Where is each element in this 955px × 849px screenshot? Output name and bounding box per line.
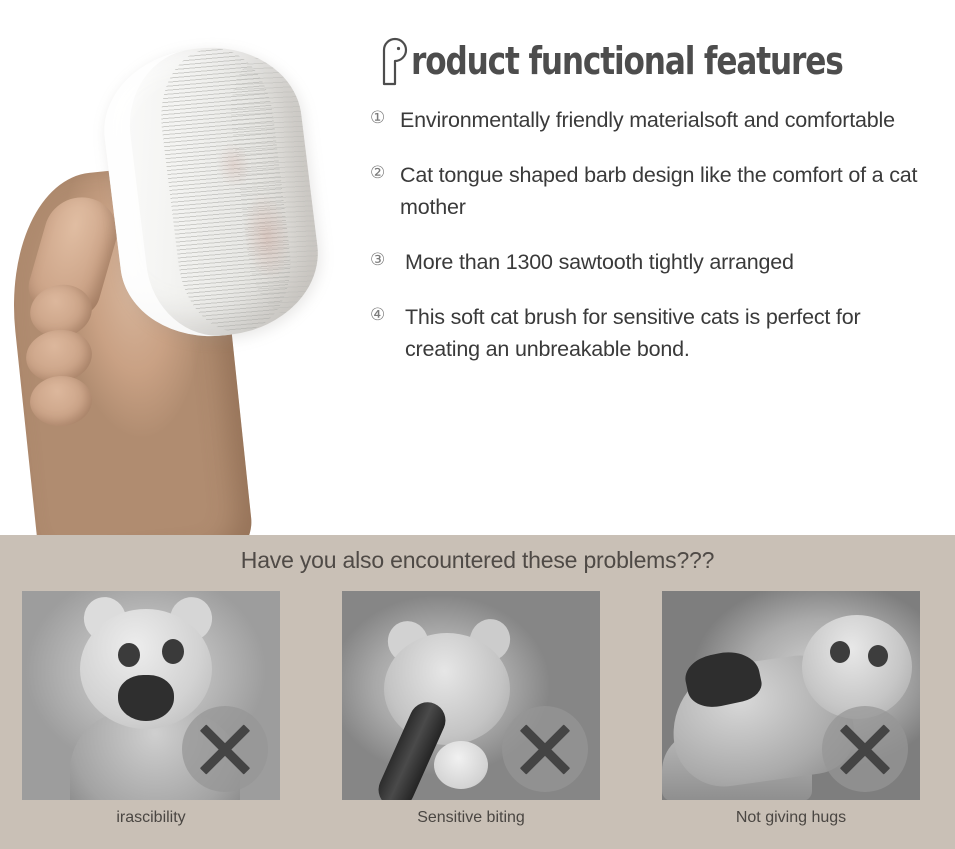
problem-tiles: irascibility Sensitive biting (22, 591, 920, 827)
problem-caption: irascibility (22, 809, 280, 827)
feature-item: ② Cat tongue shaped barb design like the… (362, 159, 955, 224)
problem-photo (22, 591, 280, 800)
decorative-p-icon (380, 36, 410, 86)
cat-open-mouth (118, 675, 174, 721)
feature-item: ① Environmentally friendly materialsoft … (362, 104, 955, 137)
cat-eye (162, 639, 184, 664)
cat-eye (830, 641, 850, 663)
cat-paw (434, 741, 488, 789)
problem-tile: Sensitive biting (342, 591, 600, 827)
feature-text: This soft cat brush for sensitive cats i… (400, 301, 925, 366)
page-title: roduct functional features (380, 32, 937, 90)
x-mark-icon (822, 706, 908, 792)
feature-text: Environmentally friendly materialsoft an… (400, 104, 920, 137)
feature-item: ③ More than 1300 sawtooth tightly arrang… (362, 246, 955, 279)
problem-caption: Sensitive biting (342, 809, 600, 827)
feature-item: ④ This soft cat brush for sensitive cats… (362, 301, 955, 366)
product-photo (0, 0, 360, 535)
feature-list: ① Environmentally friendly materialsoft … (362, 104, 955, 388)
page-title-text: roduct functional features (411, 39, 843, 83)
problem-photo (342, 591, 600, 800)
problem-caption: Not giving hugs (662, 809, 920, 827)
feature-number: ② (370, 159, 400, 187)
feature-number: ① (370, 104, 400, 132)
feature-text: Cat tongue shaped barb design like the c… (400, 159, 920, 224)
feature-number: ④ (370, 301, 400, 329)
x-mark-icon (182, 706, 268, 792)
feature-number: ③ (370, 246, 400, 274)
hero-section: roduct functional features ① Environment… (0, 0, 955, 535)
problems-section: Have you also encountered these problems… (0, 535, 955, 849)
problem-tile: irascibility (22, 591, 280, 827)
cat-eye (118, 643, 140, 667)
problems-heading: Have you also encountered these problems… (0, 547, 955, 574)
cat-eye (868, 645, 888, 667)
feature-text: More than 1300 sawtooth tightly arranged (400, 246, 925, 279)
problem-tile: Not giving hugs (662, 591, 920, 827)
features-panel: roduct functional features ① Environment… (362, 0, 955, 535)
problem-photo (662, 591, 920, 800)
x-mark-icon (502, 706, 588, 792)
cat-head (802, 615, 912, 719)
